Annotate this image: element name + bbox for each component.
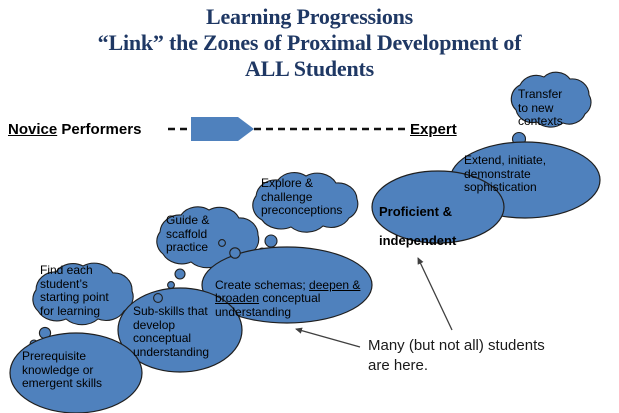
label-create-ellipse: Create schemas; deepen & broaden concept…	[215, 265, 375, 320]
progression-axis	[168, 117, 410, 141]
leader-line-up	[418, 258, 452, 330]
label-extend-ellipse: Extend, initiate, demonstrate sophistica…	[464, 154, 546, 195]
label-proficient-ellipse: Proficient & independent	[379, 190, 456, 249]
annotation-line-2: are here.	[368, 356, 545, 376]
progression-arrow	[191, 117, 254, 141]
label-subskills-ellipse: Sub-skills that develop conceptual under…	[133, 305, 209, 360]
leader-line-left	[296, 329, 360, 347]
label-explore-cloud: Explore & challenge preconceptions	[261, 177, 342, 218]
scale-label-novice: Novice Performers	[8, 121, 141, 138]
proficient-line-1: Proficient &	[379, 204, 452, 219]
annotation-line-1: Many (but not all) students	[368, 336, 545, 356]
label-prerequisite-ellipse: Prerequisite knowledge or emergent skill…	[22, 350, 102, 391]
scale-label-expert: Expert	[410, 121, 457, 138]
performers-word: Performers	[57, 121, 141, 138]
label-find-cloud: Find each student’s starting point for l…	[40, 264, 109, 319]
proficient-line-2: independent	[379, 233, 456, 248]
label-transfer-cloud: Transfer to new contexts	[518, 88, 563, 129]
slide-canvas: Learning Progressions “Link” the Zones o…	[0, 0, 619, 413]
annotation-many-students: Many (but not all) students are here.	[368, 336, 545, 375]
create-text-pre: Create schemas;	[215, 278, 309, 292]
label-guide-cloud: Guide & scaffold practice	[166, 214, 209, 255]
novice-word: Novice	[8, 121, 57, 138]
